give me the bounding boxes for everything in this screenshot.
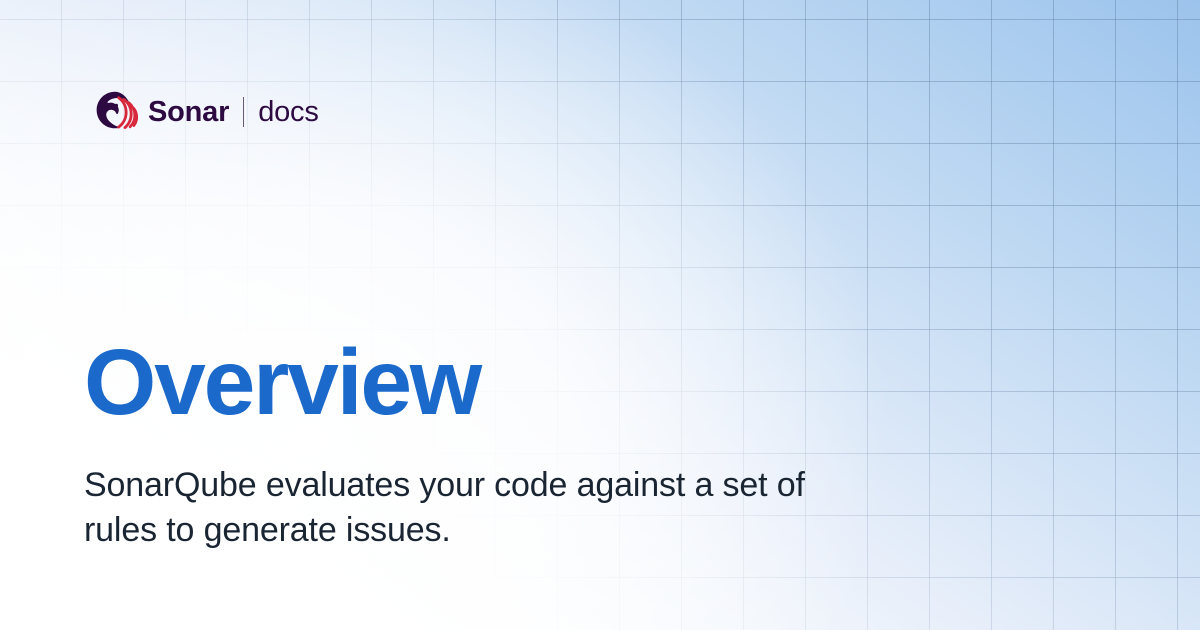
brand-divider (243, 97, 244, 127)
brand-logo-lockup[interactable]: Sonar docs (94, 88, 319, 136)
hero-content: Overview SonarQube evaluates your code a… (84, 336, 1024, 553)
brand-product-label: docs (258, 98, 318, 127)
page-subtitle: SonarQube evaluates your code against a … (84, 429, 884, 553)
page-title: Overview (84, 336, 1024, 429)
sonar-logo-icon (94, 90, 138, 134)
hero-banner: Sonar docs Overview SonarQube evaluates … (0, 0, 1200, 630)
brand-wordmark: Sonar docs (148, 97, 319, 127)
brand-name: Sonar (148, 98, 229, 127)
